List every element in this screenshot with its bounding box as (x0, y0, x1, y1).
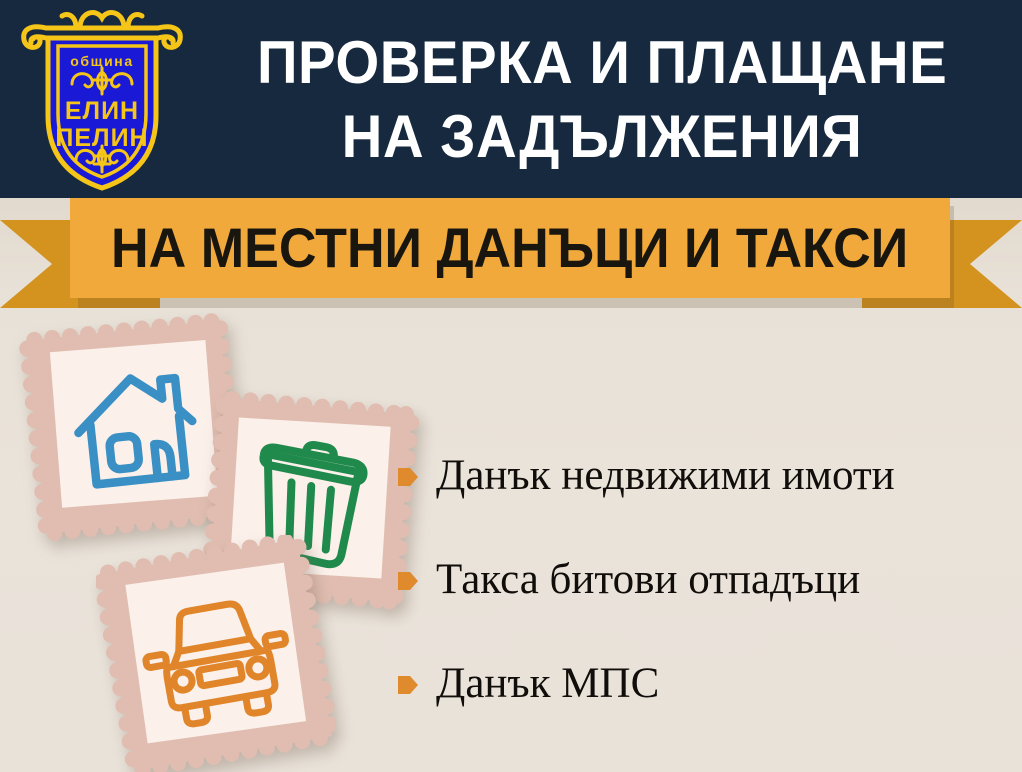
poster-title-line-1: ПРОВЕРКА И ПЛАЩАНЕ (257, 26, 947, 100)
ribbon-banner: НА МЕСТНИ ДАНЪЦИ И ТАКСИ (70, 198, 950, 298)
list-item: Данък недвижими имоти (398, 424, 1010, 528)
ribbon-label: НА МЕСТНИ ДАНЪЦИ И ТАКСИ (111, 218, 908, 278)
list-item: Такса битови отпадъци (398, 528, 1010, 632)
tax-type-list: Данък недвижими имоти Такса битови отпад… (398, 424, 1010, 736)
list-item-label: Данък недвижими имоти (436, 452, 895, 500)
arrow-bullet-icon (398, 674, 418, 696)
arrow-bullet-icon (398, 570, 418, 592)
poster-canvas: община ЕЛИН ПЕЛИН ПРОВЕРКА И (0, 0, 1022, 772)
list-item: Данък МПС (398, 632, 1010, 736)
stamp-card-car (96, 535, 336, 772)
list-item-label: Данък МПС (436, 660, 659, 708)
poster-title: ПРОВЕРКА И ПЛАЩАНЕ НА ЗАДЪЛЖЕНИЯ (196, 16, 1008, 184)
poster-title-line-2: НА ЗАДЪЛЖЕНИЯ (342, 100, 863, 174)
crest-text-elin: ЕЛИН (65, 97, 139, 125)
arrow-bullet-icon (398, 466, 418, 488)
subtitle-ribbon: НА МЕСТНИ ДАНЪЦИ И ТАКСИ (0, 198, 1022, 308)
list-item-label: Такса битови отпадъци (436, 556, 860, 604)
coat-of-arms: община ЕЛИН ПЕЛИН (18, 4, 186, 196)
